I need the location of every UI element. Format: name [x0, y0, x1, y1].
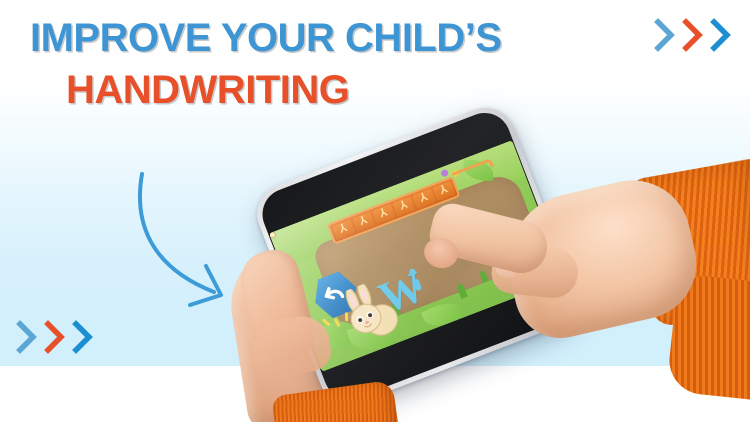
progress-segment: ⅄ [392, 196, 415, 216]
photo-composition: ⅄ ⅄ ⅄ ⅄ ⅄ ⅄ [0, 0, 750, 422]
progress-segment: ⅄ [352, 212, 375, 232]
progress-segment-glyph: ⅄ [379, 208, 389, 221]
progress-segment-glyph: ⅄ [399, 200, 409, 213]
promo-screenshot: IMPROVE YOUR CHILD’S HANDWRITING [0, 0, 750, 422]
progress-segment-glyph: ⅄ [359, 215, 369, 228]
progress-segment-glyph: ⅄ [338, 223, 348, 236]
progress-segment: ⅄ [372, 204, 395, 224]
progress-segment: ⅄ [332, 219, 355, 239]
progress-segment: ⅄ [432, 181, 455, 201]
progress-segment: ⅄ [412, 188, 435, 208]
progress-segment-glyph: ⅄ [439, 185, 449, 198]
progress-segment-glyph: ⅄ [419, 192, 429, 205]
